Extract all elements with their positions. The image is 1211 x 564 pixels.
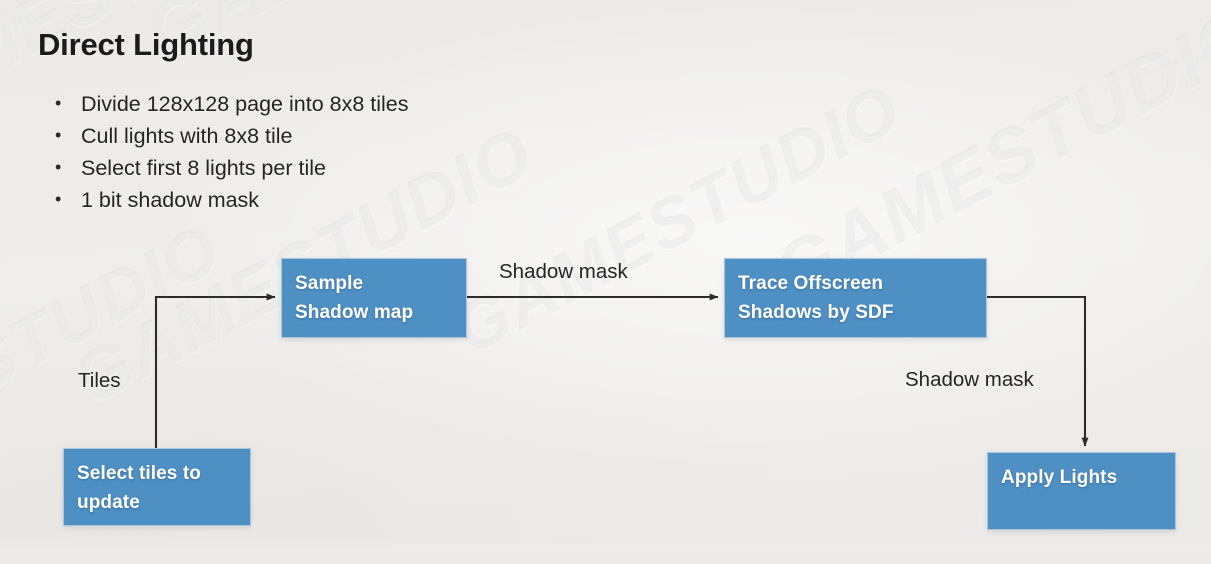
node-label-line-1: Sample [295, 269, 466, 298]
flow-diagram: Sample Shadow map Trace Offscreen Shadow… [0, 0, 1211, 564]
node-label-line-1: Select tiles to [77, 459, 250, 488]
node-label-line-1: Apply Lights [1001, 463, 1175, 492]
node-apply-lights[interactable]: Apply Lights [987, 452, 1176, 530]
node-label-line-2: update [77, 488, 250, 517]
slide-canvas: GAMESTUDIO GAMESTUDIO GAMESTUDIO GAMESTU… [0, 0, 1211, 564]
edge-label-tiles: Tiles [78, 369, 121, 393]
node-trace-offscreen-shadows[interactable]: Trace Offscreen Shadows by SDF [724, 258, 987, 338]
node-label-line-2: Shadows by SDF [738, 298, 986, 327]
connector-select-to-sample [156, 297, 275, 448]
edge-label-shadow-mask-right: Shadow mask [905, 368, 1034, 392]
edge-label-shadow-mask-top: Shadow mask [499, 260, 628, 284]
node-sample-shadow-map[interactable]: Sample Shadow map [281, 258, 467, 338]
node-select-tiles-to-update[interactable]: Select tiles to update [63, 448, 251, 526]
node-label-line-1: Trace Offscreen [738, 269, 986, 298]
node-label-line-2: Shadow map [295, 298, 466, 327]
